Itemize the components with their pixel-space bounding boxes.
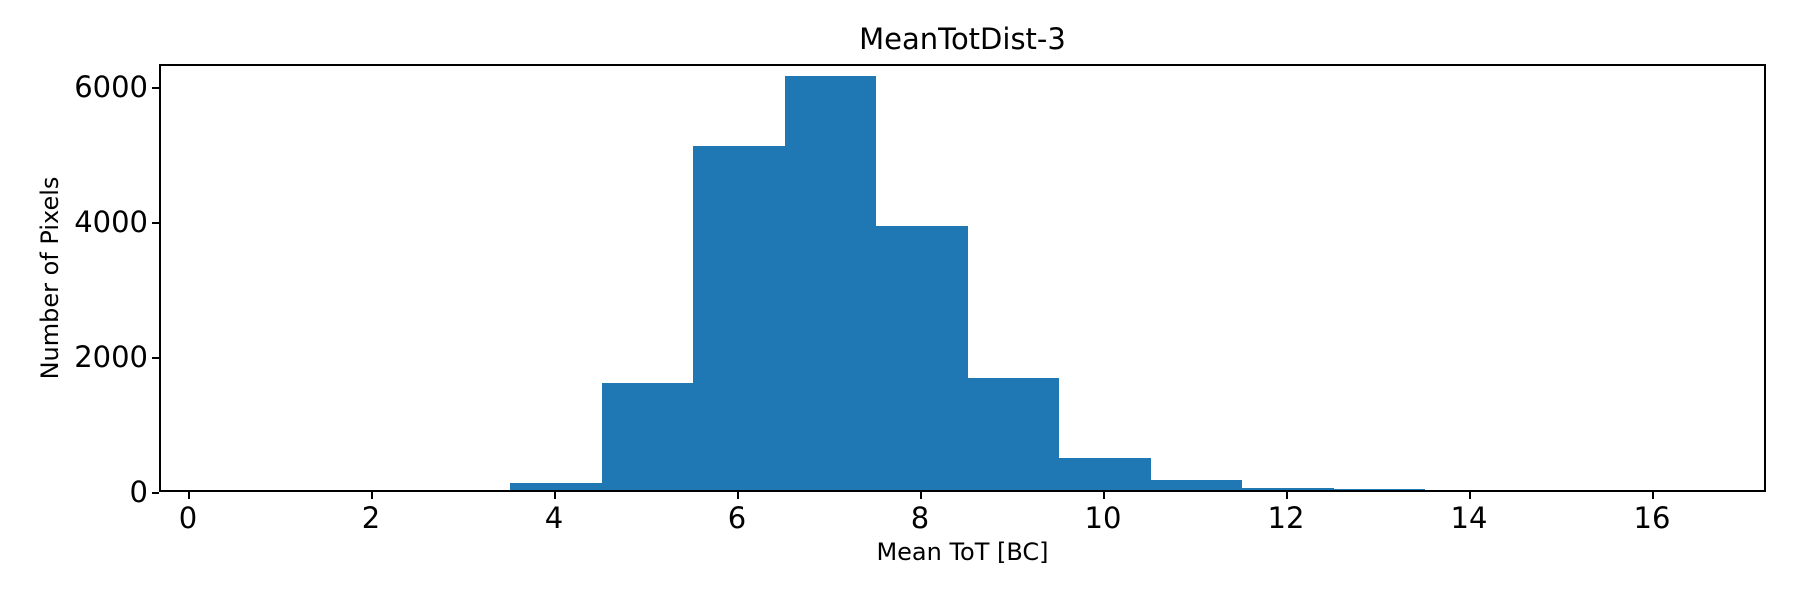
x-axis-tick (1469, 492, 1471, 499)
x-axis-label: Mean ToT [BC] (159, 538, 1766, 566)
y-axis-tick (152, 222, 159, 224)
x-axis-tick (737, 492, 739, 499)
histogram-bar (1059, 458, 1150, 490)
x-axis-tick (1652, 492, 1654, 499)
y-axis-tick-label: 6000 (0, 70, 148, 104)
x-axis-tick (1286, 492, 1288, 499)
x-axis-tick (371, 492, 373, 499)
histogram-bar (785, 76, 876, 490)
x-axis-tick-label: 14 (1409, 501, 1529, 535)
x-axis-tick (920, 492, 922, 499)
matplotlib-figure: MeanTotDist-3 0246810121416 020004000600… (0, 0, 1800, 600)
y-axis-label: Number of Pixels (33, 64, 67, 492)
histogram-bar (1334, 489, 1425, 490)
histogram-bar (693, 146, 784, 490)
y-axis-tick (152, 357, 159, 359)
x-axis-tick (1103, 492, 1105, 499)
y-axis-tick-label: 4000 (0, 205, 148, 239)
plot-area (161, 66, 1764, 490)
x-axis-tick-label: 2 (311, 501, 431, 535)
y-axis-label-wrapper: Number of Pixels (33, 492, 67, 600)
histogram-bar (1151, 480, 1242, 490)
x-axis-tick-label: 10 (1043, 501, 1163, 535)
x-axis-tick-label: 4 (494, 501, 614, 535)
x-axis-tick-label: 12 (1226, 501, 1346, 535)
histogram-bar (876, 226, 967, 490)
x-axis-tick-label: 16 (1592, 501, 1712, 535)
histogram-bar (602, 383, 693, 490)
histogram-bar (968, 378, 1059, 490)
x-axis-tick (554, 492, 556, 499)
x-axis-tick-label: 8 (860, 501, 980, 535)
plot-axes (159, 64, 1766, 492)
y-axis-tick (152, 492, 159, 494)
x-axis-tick (188, 492, 190, 499)
histogram-bar (510, 483, 601, 490)
x-axis-tick-label: 6 (677, 501, 797, 535)
histogram-bar (1242, 488, 1333, 490)
chart-title: MeanTotDist-3 (159, 22, 1766, 56)
y-axis-tick-label: 2000 (0, 340, 148, 374)
y-axis-tick-label: 0 (0, 475, 148, 509)
y-axis-tick (152, 87, 159, 89)
